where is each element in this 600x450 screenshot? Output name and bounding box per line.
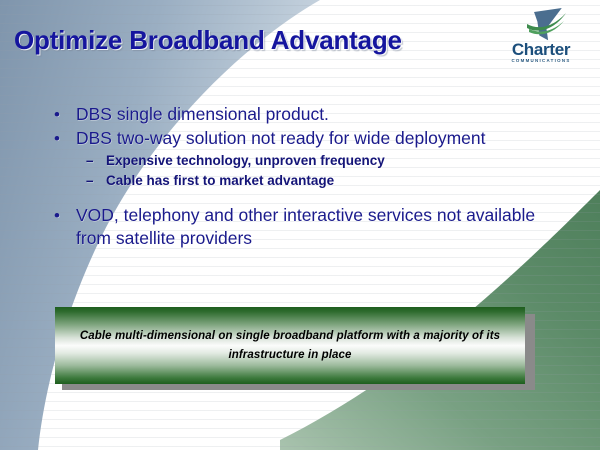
sub-bullet-marker-1: – — [86, 151, 94, 171]
bullet-text-1: DBS single dimensional product. — [76, 104, 329, 124]
bullet-marker-1: • — [54, 103, 60, 126]
bullet-item-1: • DBS single dimensional product. — [46, 103, 566, 126]
bullet-item-3: • VOD, telephony and other interactive s… — [46, 204, 566, 250]
charter-logo-mark — [526, 8, 572, 42]
sub-bullet-item-1: – Expensive technology, unproven frequen… — [46, 151, 566, 171]
callout-text: Cable multi-dimensional on single broadb… — [75, 327, 505, 365]
sub-bullet-text-1: Expensive technology, unproven frequency — [106, 153, 385, 168]
slide-canvas: Optimize Broadband Advantage Charter COM… — [0, 0, 600, 450]
charter-tagline: COMMUNICATIONS — [496, 58, 586, 64]
callout-box: Cable multi-dimensional on single broadb… — [55, 307, 525, 384]
sub-bullet-text-2: Cable has first to market advantage — [106, 173, 334, 188]
bullet-text-2: DBS two-way solution not ready for wide … — [76, 128, 486, 148]
charter-wordmark: Charter — [496, 41, 586, 58]
slide-title: Optimize Broadband Advantage — [14, 25, 402, 56]
sub-bullet-marker-2: – — [86, 171, 94, 191]
bullet-item-2: • DBS two-way solution not ready for wid… — [46, 127, 566, 150]
charter-logo: Charter COMMUNICATIONS — [490, 8, 586, 70]
bullet-marker-3: • — [54, 204, 60, 227]
bullet-text-3: VOD, telephony and other interactive ser… — [76, 205, 535, 248]
bullet-list: • DBS single dimensional product. • DBS … — [46, 103, 566, 251]
bullet-marker-2: • — [54, 127, 60, 150]
sub-bullet-item-2: – Cable has first to market advantage — [46, 171, 566, 191]
